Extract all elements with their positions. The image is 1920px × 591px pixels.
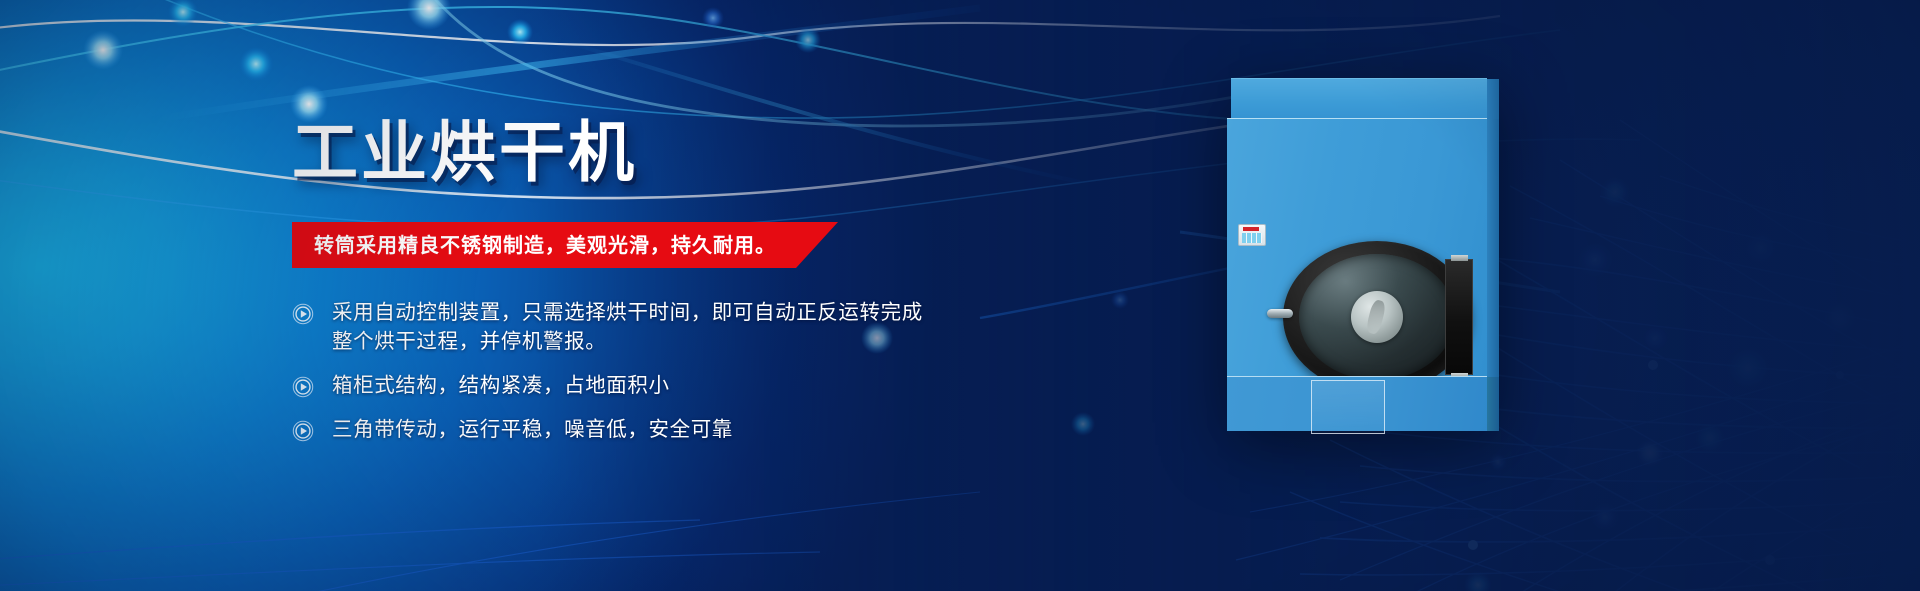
list-item: 三角带传动，运行平稳，噪音低，安全可靠 — [292, 415, 992, 444]
tagline-text: 转筒采用精良不锈钢制造，美观光滑，持久耐用。 — [314, 222, 776, 268]
feature-list: 采用自动控制装置，只需选择烘干时间，即可自动正反运转完成 整个烘干过程，并停机警… — [292, 298, 992, 444]
play-circle-icon — [292, 303, 314, 325]
machine-body — [1227, 118, 1487, 377]
drum-door — [1283, 241, 1471, 393]
door-glass — [1299, 254, 1455, 380]
machine-top-cover — [1231, 78, 1487, 119]
page-title: 工业烘干机 — [292, 120, 992, 186]
play-circle-icon — [292, 420, 314, 442]
list-item: 采用自动控制装置，只需选择烘干时间，即可自动正反运转完成 整个烘干过程，并停机警… — [292, 298, 992, 356]
banner-content: 工业烘干机 转筒采用精良不锈钢制造，美观光滑，持久耐用。 采用自动控制装置，只需… — [292, 120, 992, 460]
list-item: 箱柜式结构，结构紧凑，占地面积小 — [292, 371, 992, 400]
product-image — [1227, 78, 1499, 430]
control-panel-icon — [1238, 224, 1266, 246]
door-hinge — [1445, 259, 1473, 375]
door-handle — [1267, 309, 1293, 318]
product-hero-banner: 工业烘干机 转筒采用精良不锈钢制造，美观光滑，持久耐用。 采用自动控制装置，只需… — [0, 0, 1920, 591]
feature-text: 箱柜式结构，结构紧凑，占地面积小 — [332, 371, 670, 400]
tagline-ribbon: 转筒采用精良不锈钢制造，美观光滑，持久耐用。 — [292, 222, 838, 268]
door-hub — [1351, 291, 1403, 343]
feature-text: 采用自动控制装置，只需选择烘干时间，即可自动正反运转完成 整个烘干过程，并停机警… — [332, 298, 923, 356]
panel-seam-lower — [1227, 376, 1487, 377]
panel-seam-upper — [1227, 118, 1487, 119]
play-circle-icon — [292, 376, 314, 398]
feature-text: 三角带传动，运行平稳，噪音低，安全可靠 — [332, 415, 733, 444]
access-panel — [1311, 380, 1385, 434]
